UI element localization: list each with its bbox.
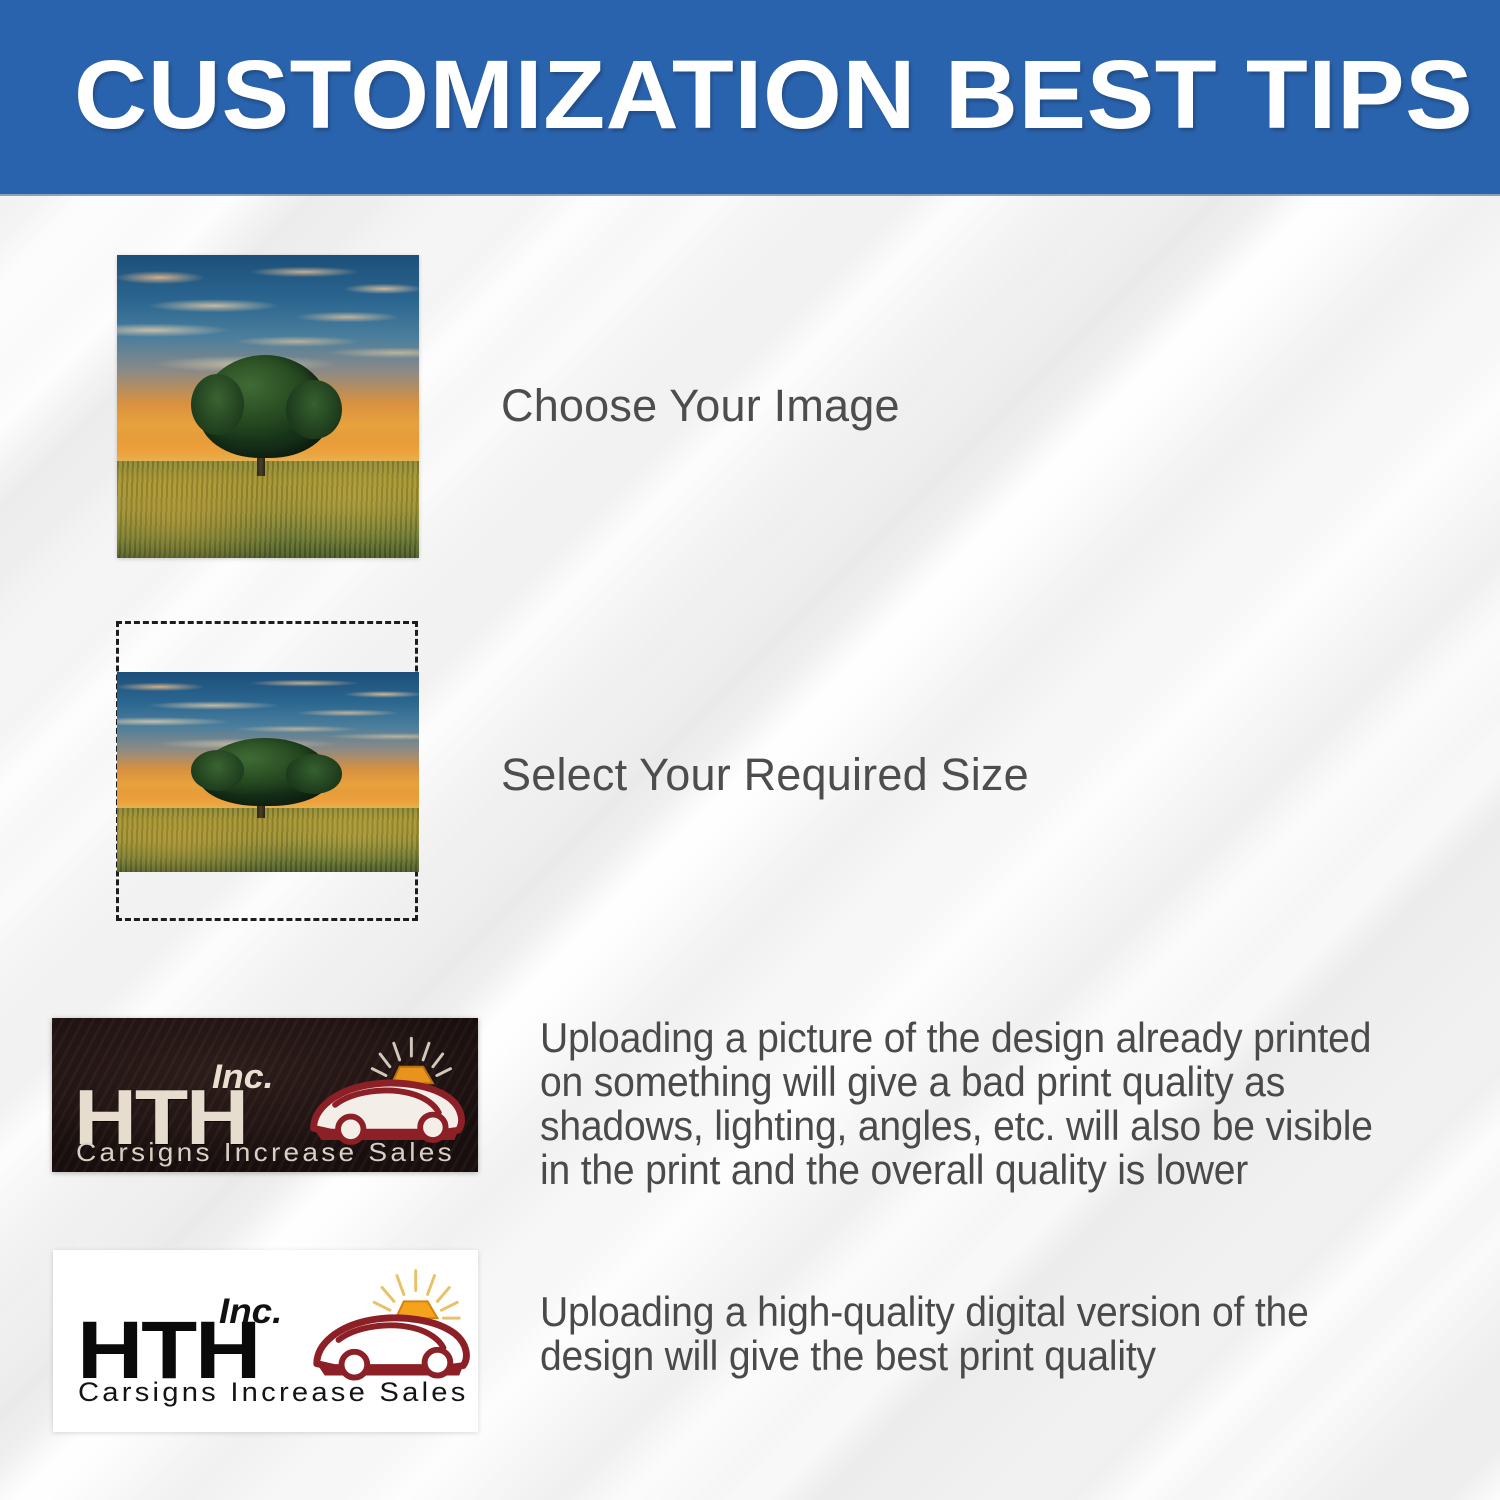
logo-suffix: Inc. — [212, 1060, 274, 1094]
infographic-page: CUSTOMIZATION BEST TIPS Choose Your Imag… — [0, 0, 1500, 1500]
tip-line: on something will give a bad print quali… — [540, 1060, 1498, 1104]
landscape-scene — [117, 255, 419, 558]
header-banner: CUSTOMIZATION BEST TIPS — [0, 0, 1500, 194]
tip-line: Uploading a picture of the design alread… — [540, 1016, 1498, 1060]
car-with-sunburst-icon — [299, 1266, 477, 1400]
tip-line: shadows, lighting, angles, etc. will als… — [540, 1104, 1498, 1148]
page-title: CUSTOMIZATION BEST TIPS — [74, 42, 1500, 148]
logo-suffix: Inc. — [219, 1294, 282, 1329]
tip-line: design will give the best print quality — [540, 1334, 1433, 1378]
landscape-photo-full — [117, 255, 419, 558]
tip-text-good-quality: Uploading a high-quality digital version… — [540, 1290, 1433, 1378]
field-light-wash — [117, 461, 419, 558]
hth-logo-light: HTH Inc. Carsigns Increase Sales — [53, 1250, 478, 1432]
hth-logo-dark: HTH Inc. Carsigns Increase Sales — [52, 1018, 478, 1172]
tip-line: Uploading a high-quality digital version… — [540, 1290, 1433, 1334]
tip-line: in the print and the overall quality is … — [540, 1148, 1498, 1192]
landscape-scene-cropped — [117, 672, 419, 872]
car-with-sunburst-icon — [296, 1034, 472, 1162]
step-label-choose-image: Choose Your Image — [501, 379, 900, 433]
field-light-wash — [117, 808, 419, 872]
hth-logo-digital-white: HTH Inc. Carsigns Increase Sales — [53, 1250, 478, 1432]
landscape-photo-cropped — [117, 672, 419, 872]
step-label-select-size: Select Your Required Size — [501, 748, 1029, 802]
hth-banner-photo-dark: HTH Inc. Carsigns Increase Sales — [52, 1018, 478, 1172]
tip-text-bad-quality: Uploading a picture of the design alread… — [540, 1016, 1498, 1192]
